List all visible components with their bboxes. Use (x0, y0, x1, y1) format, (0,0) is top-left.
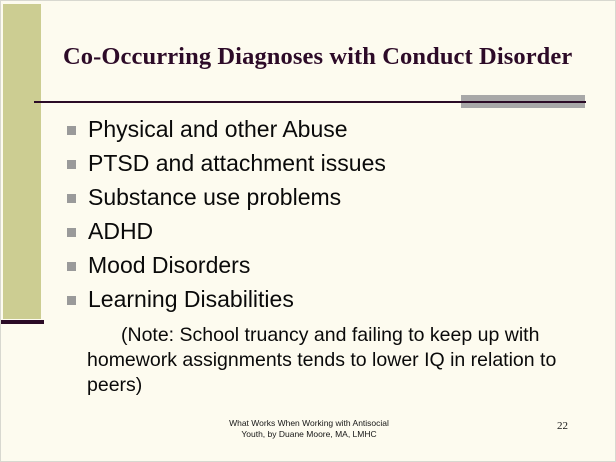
square-bullet-icon (67, 262, 76, 271)
bullet-list: Physical and other Abuse PTSD and attach… (67, 112, 587, 316)
footer-credit-line-1: What Works When Working with Antisocial (1, 418, 616, 429)
slide-title: Co-Occurring Diagnoses with Conduct Diso… (63, 43, 593, 71)
square-bullet-icon (67, 228, 76, 237)
title-divider-rule (34, 101, 586, 103)
decorative-side-rule (1, 320, 44, 324)
footer-credit: What Works When Working with Antisocial … (1, 418, 616, 440)
list-item: PTSD and attachment issues (67, 146, 587, 180)
list-item: Learning Disabilities (67, 282, 587, 316)
list-item-label: Substance use problems (88, 186, 341, 209)
note-paragraph: (Note: School truancy and failing to kee… (87, 323, 585, 398)
list-item: Substance use problems (67, 180, 587, 214)
decorative-side-bar (3, 4, 41, 319)
list-item-label: Physical and other Abuse (88, 118, 348, 141)
footer-credit-line-2: Youth, by Duane Moore, MA, LMHC (1, 429, 616, 440)
list-item-label: ADHD (88, 220, 153, 243)
list-item-label: Mood Disorders (88, 254, 250, 277)
list-item: Mood Disorders (67, 248, 587, 282)
square-bullet-icon (67, 160, 76, 169)
list-item-label: PTSD and attachment issues (88, 152, 386, 175)
list-item: Physical and other Abuse (67, 112, 587, 146)
square-bullet-icon (67, 296, 76, 305)
presentation-slide: Co-Occurring Diagnoses with Conduct Diso… (0, 0, 616, 462)
square-bullet-icon (67, 194, 76, 203)
page-number: 22 (557, 420, 587, 432)
list-item-label: Learning Disabilities (88, 288, 294, 311)
list-item: ADHD (67, 214, 587, 248)
square-bullet-icon (67, 126, 76, 135)
